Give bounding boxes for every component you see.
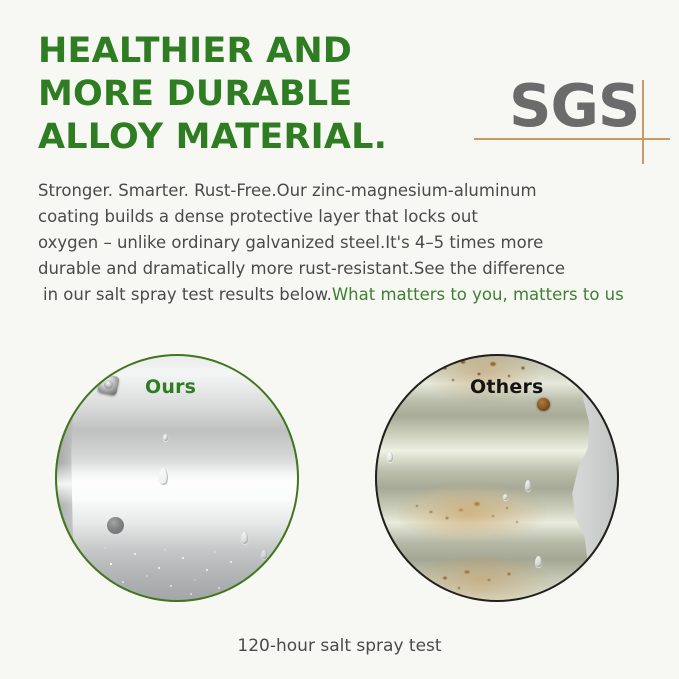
water-droplet: [535, 556, 542, 567]
body-paragraph: Stronger. Smarter. Rust-Free.Our zinc-ma…: [38, 178, 658, 308]
water-droplet: [163, 434, 168, 441]
body-line-5-prefix: in our salt spray test results below.: [43, 285, 332, 304]
sgs-logo: SGS: [474, 74, 674, 164]
sample-label-others: Others: [470, 376, 544, 398]
test-caption: 120-hour salt spray test: [0, 636, 679, 656]
ours-condensation-layer: [55, 524, 299, 602]
body-line-3: oxygen – unlike ordinary galvanized stee…: [38, 230, 658, 256]
rust-spot: [537, 398, 550, 411]
salt-spray-comparison: Ours Others: [0, 352, 679, 612]
water-droplet: [503, 494, 508, 500]
body-line-4: durable and dramatically more rust-resis…: [38, 256, 658, 282]
water-droplet: [159, 468, 168, 485]
sample-label-ours: Ours: [145, 376, 196, 398]
body-line-1: Stronger. Smarter. Rust-Free.Our zinc-ma…: [38, 178, 658, 204]
ours-surface-sheen: [55, 463, 299, 505]
sgs-vertical-rule: [642, 80, 644, 164]
sgs-logo-text: SGS: [509, 74, 639, 138]
page-title: HEALTHIER AND MORE DURABLE ALLOY MATERIA…: [38, 30, 458, 159]
water-droplet: [525, 480, 531, 491]
body-line-2: coating builds a dense protective layer …: [38, 204, 658, 230]
rust-stain-middle: [397, 482, 547, 544]
promo-page: HEALTHIER AND MORE DURABLE ALLOY MATERIA…: [0, 0, 679, 679]
headline-line-1: HEALTHIER AND: [38, 30, 458, 73]
brand-tagline: What matters to you, matters to us: [332, 285, 624, 304]
headline-line-3: ALLOY MATERIAL.: [38, 116, 458, 159]
bolt-icon: [97, 373, 120, 396]
water-droplet: [387, 452, 393, 462]
headline-line-2: MORE DURABLE: [38, 73, 458, 116]
body-line-5: in our salt spray test results below.Wha…: [38, 282, 658, 308]
